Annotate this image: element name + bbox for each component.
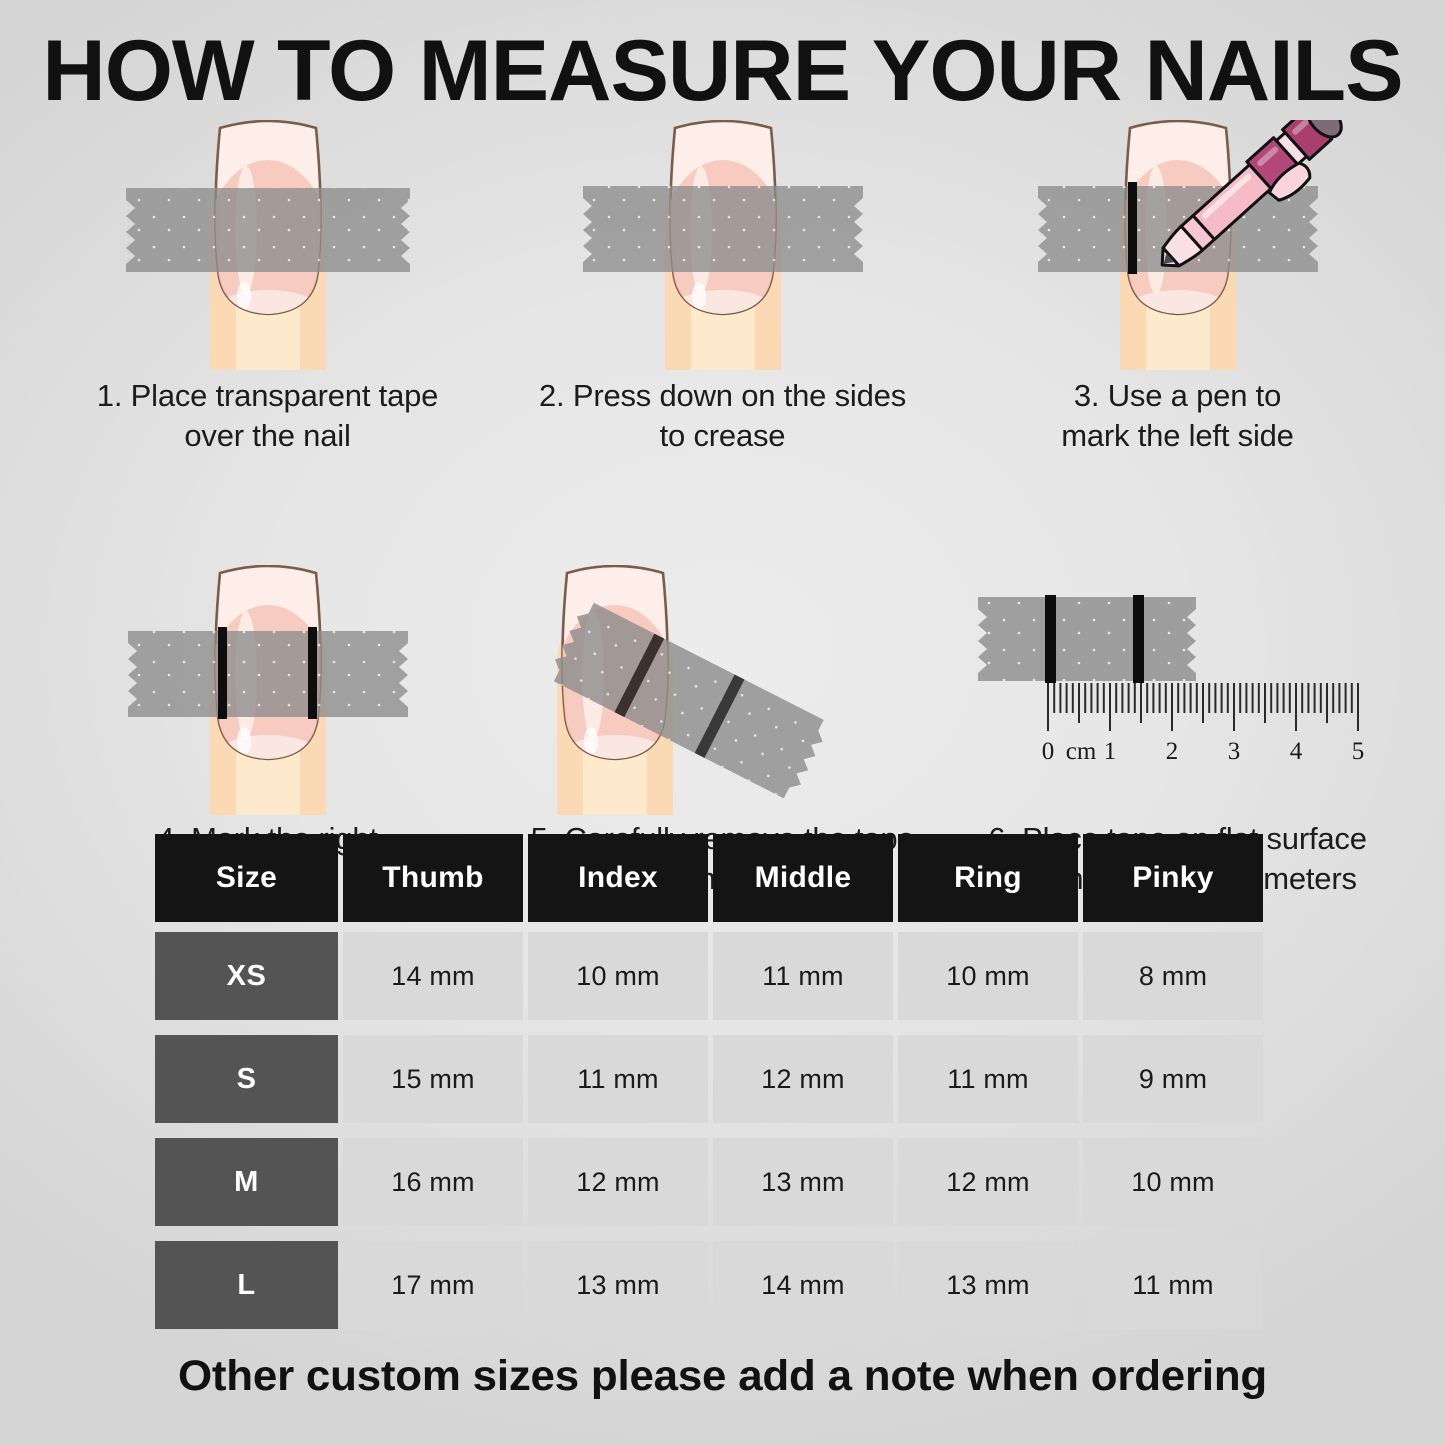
step-1-caption: 1. Place transparent tape over the nail (40, 376, 495, 455)
step-3: 3. Use a pen to mark the left side (950, 120, 1405, 455)
size-label-l: L (155, 1241, 338, 1329)
steps-row-1: 1. Place transparent tape over the nail (40, 120, 1405, 455)
header-thumb: Thumb (343, 834, 523, 922)
ruler-label-1: 1 (1103, 738, 1116, 765)
ruler-unit-label: cm (1065, 738, 1096, 765)
size-label-xs: XS (155, 932, 338, 1020)
cell-s-thumb: 15 mm (343, 1035, 523, 1123)
ruler-label-3: 3 (1227, 738, 1240, 765)
right-mark-icon (308, 627, 317, 719)
left-mark-icon (218, 627, 227, 719)
page-title: HOW TO MEASURE YOUR NAILS (0, 22, 1445, 121)
header-index: Index (528, 834, 708, 922)
ruler-measuring-icon: 0 cm 1 2 3 4 5 (968, 583, 1388, 833)
size-table: Size Thumb Index Middle Ring Pinky XS 14… (155, 834, 1323, 1344)
step-3-illustration (950, 120, 1405, 370)
left-mark-icon (1045, 595, 1056, 683)
ruler-labels: 0 cm 1 2 3 4 5 (1041, 738, 1364, 765)
size-label-m: M (155, 1138, 338, 1226)
tape-peeling-off-icon (495, 565, 895, 815)
cell-l-thumb: 17 mm (343, 1241, 523, 1329)
cell-m-middle: 13 mm (713, 1138, 893, 1226)
step-1-caption-line2: over the nail (48, 416, 487, 456)
size-label-s: S (155, 1035, 338, 1123)
tape-icon (978, 597, 1196, 681)
step-3-caption-line2: mark the left side (958, 416, 1397, 456)
cell-xs-middle: 11 mm (713, 932, 893, 1020)
ruler-label-2: 2 (1165, 738, 1178, 765)
cell-xs-pinky: 8 mm (1083, 932, 1263, 1020)
header-ring: Ring (898, 834, 1078, 922)
right-mark-icon (1133, 595, 1144, 683)
tape-icon (128, 631, 408, 717)
finger-tape-pressed-icon (573, 120, 873, 370)
step-2-illustration (495, 120, 950, 370)
infographic-page: HOW TO MEASURE YOUR NAILS (0, 0, 1445, 1445)
ruler-label-0: 0 (1041, 738, 1054, 765)
cell-s-middle: 12 mm (713, 1035, 893, 1123)
header-pinky: Pinky (1083, 834, 1263, 922)
cell-xs-ring: 10 mm (898, 932, 1078, 1020)
footer-note: Other custom sizes please add a note whe… (0, 1352, 1445, 1401)
finger-with-tape-icon (118, 120, 418, 370)
step-2-caption-line2: to crease (503, 416, 942, 456)
table-row: XS 14 mm 10 mm 11 mm 10 mm 8 mm (155, 932, 1323, 1020)
cell-m-pinky: 10 mm (1083, 1138, 1263, 1226)
tape-icon (583, 186, 863, 272)
ruler-label-4: 4 (1289, 738, 1302, 765)
cell-l-ring: 13 mm (898, 1241, 1078, 1329)
cell-s-ring: 11 mm (898, 1035, 1078, 1123)
cell-l-middle: 14 mm (713, 1241, 893, 1329)
table-header-row: Size Thumb Index Middle Ring Pinky (155, 834, 1323, 922)
header-size: Size (155, 834, 338, 922)
cell-m-ring: 12 mm (898, 1138, 1078, 1226)
cell-xs-thumb: 14 mm (343, 932, 523, 1020)
cell-l-index: 13 mm (528, 1241, 708, 1329)
tape-icon (126, 188, 410, 272)
step-5-illustration (495, 565, 950, 813)
ruler-label-5: 5 (1351, 738, 1364, 765)
step-3-caption: 3. Use a pen to mark the left side (950, 376, 1405, 455)
table-row: L 17 mm 13 mm 14 mm 13 mm 11 mm (155, 1241, 1323, 1329)
step-3-caption-line1: 3. Use a pen to (958, 376, 1397, 416)
pen-marking-left-icon (1008, 120, 1348, 370)
cell-l-pinky: 11 mm (1083, 1241, 1263, 1329)
step-1-caption-line1: 1. Place transparent tape (48, 376, 487, 416)
step-2-caption: 2. Press down on the sides to crease (495, 376, 950, 455)
cell-m-index: 12 mm (528, 1138, 708, 1226)
step-2-caption-line1: 2. Press down on the sides (503, 376, 942, 416)
tape-two-marks-icon (118, 565, 418, 815)
step-1-illustration (40, 120, 495, 370)
cell-s-pinky: 9 mm (1083, 1035, 1263, 1123)
table-row: M 16 mm 12 mm 13 mm 12 mm 10 mm (155, 1138, 1323, 1226)
header-middle: Middle (713, 834, 893, 922)
step-4-illustration (40, 565, 495, 813)
step-6-illustration: 0 cm 1 2 3 4 5 (950, 565, 1405, 813)
ruler-ticks (1048, 683, 1358, 731)
steps-grid: 1. Place transparent tape over the nail (40, 120, 1405, 899)
step-1: 1. Place transparent tape over the nail (40, 120, 495, 455)
cell-xs-index: 10 mm (528, 932, 708, 1020)
left-mark-icon (1128, 182, 1137, 274)
cell-s-index: 11 mm (528, 1035, 708, 1123)
cell-m-thumb: 16 mm (343, 1138, 523, 1226)
table-row: S 15 mm 11 mm 12 mm 11 mm 9 mm (155, 1035, 1323, 1123)
step-2: 2. Press down on the sides to crease (495, 120, 950, 455)
